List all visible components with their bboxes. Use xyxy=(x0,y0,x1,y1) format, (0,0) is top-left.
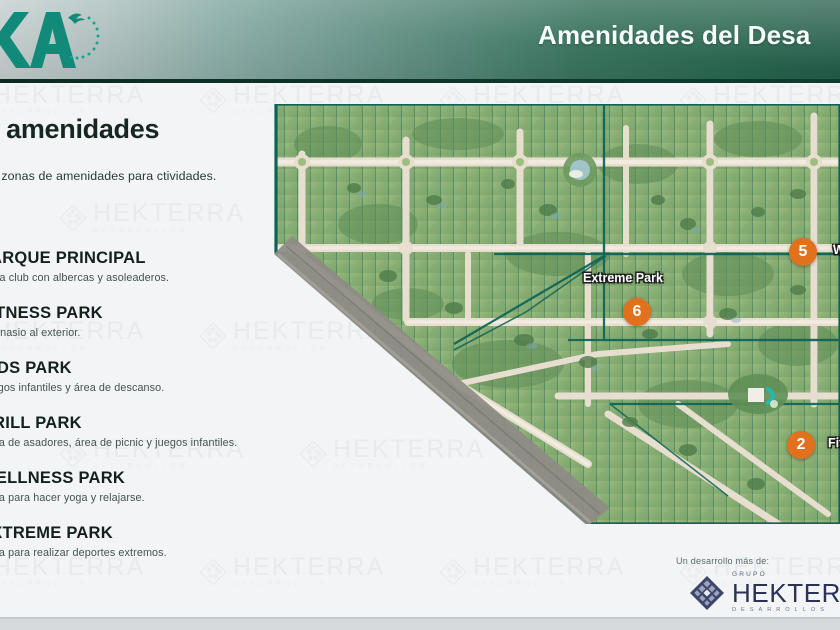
bottom-strip xyxy=(0,619,840,630)
masterplan-map[interactable]: 5Wellness Park6Extreme Park1Parque Prin2… xyxy=(258,104,840,524)
map-marker-badge[interactable]: 6 xyxy=(623,298,651,326)
amenity-name: WELLNESS PARK xyxy=(0,468,340,488)
watermark-tile: HEKTERRADESARROLLOS xyxy=(440,555,625,588)
panel-title: de amenidades xyxy=(0,114,298,145)
amenity-description: Zona de asadores, área de picnic y juego… xyxy=(0,435,340,451)
page-title: Amenidades del Desa xyxy=(538,20,811,51)
amenity-item: EXTREME PARKZona para realizar deportes … xyxy=(0,523,340,561)
map-marker-label: Extreme Park xyxy=(583,271,663,285)
map-marker-badge[interactable]: 5 xyxy=(789,238,817,266)
amenity-item: PARQUE PRINCIPALCasa club con albercas y… xyxy=(0,248,340,286)
amenity-name: EXTREME PARK xyxy=(0,523,340,543)
amenity-item: FITNESS PARKGimnasio al exterior. xyxy=(0,303,340,341)
hekterra-diamond-icon xyxy=(690,576,724,610)
amenity-name: FITNESS PARK xyxy=(0,303,340,323)
amenity-name: GRILL PARK xyxy=(0,413,340,433)
developed-by-label: Un desarrollo más de: xyxy=(676,556,769,566)
amenity-name: KIDS PARK xyxy=(0,358,340,378)
ka-logo xyxy=(0,4,104,76)
amenities-list: PARQUE PRINCIPALCasa club con albercas y… xyxy=(0,248,340,578)
header-divider xyxy=(0,79,840,83)
watermark-text: HEKTERRA xyxy=(473,555,625,580)
watermark-subtext: DESARROLLOS xyxy=(473,582,625,588)
amenities-panel: de amenidades us 6 zonas de amenidades p… xyxy=(0,100,340,620)
amenity-item: KIDS PARKJuegos infantiles y área de des… xyxy=(0,358,340,396)
slide-header: Amenidades del Desa xyxy=(0,0,840,83)
amenity-name: PARQUE PRINCIPAL xyxy=(0,248,340,268)
brand-tagline: DESARROLLOS xyxy=(732,608,840,614)
amenity-item: WELLNESS PARKZona para hacer yoga y rela… xyxy=(0,468,340,506)
amenity-item: GRILL PARKZona de asadores, área de picn… xyxy=(0,413,340,451)
map-marker-label: Wellness Park xyxy=(833,243,840,257)
map-marker-label: Fitness Park xyxy=(828,436,840,450)
amenity-description: Casa club con albercas y asoleaderos. xyxy=(0,270,340,286)
slide-canvas: HEKTERRADESARROLLOSHEKTERRADESARROLLOSHE… xyxy=(0,0,840,630)
amenity-description: Zona para hacer yoga y relajarse. xyxy=(0,490,340,506)
panel-intro: us 6 zonas de amenidades para ctividades… xyxy=(0,166,274,186)
hekterra-logo: GRUPO HEKTERRA DESARROLLOS xyxy=(690,572,840,613)
map-marker-badge[interactable]: 2 xyxy=(787,431,815,459)
amenity-description: Juegos infantiles y área de descanso. xyxy=(0,380,340,396)
brand-name: HEKTERRA xyxy=(732,580,840,606)
watermark-diamond-icon xyxy=(440,559,466,585)
masterplan-illustration xyxy=(258,104,840,524)
amenity-description: Gimnasio al exterior. xyxy=(0,325,340,341)
amenity-description: Zona para realizar deportes extremos. xyxy=(0,545,340,561)
